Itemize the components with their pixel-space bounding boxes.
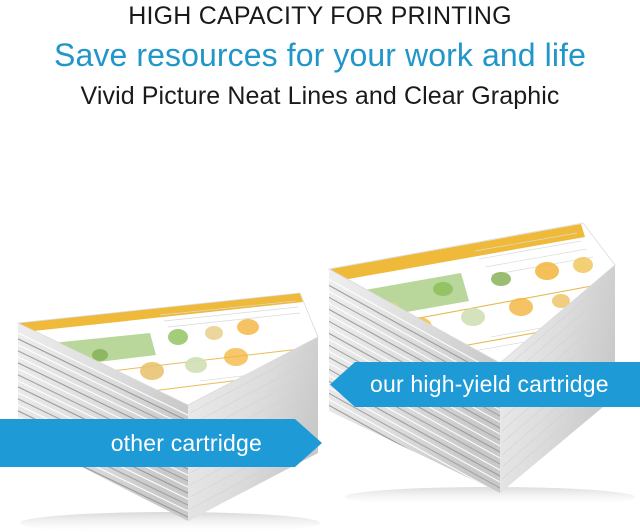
headline-block: HIGH CAPACITY FOR PRINTING Save resource… [0, 0, 640, 112]
other-cartridge-label: other cartridge [111, 430, 262, 457]
headline-line-2-accent: Save resources for your work and life [0, 35, 640, 75]
high-yield-paper-stack [315, 215, 640, 505]
other-cartridge-paper-stack [0, 285, 330, 532]
high-yield-cartridge-ribbon: our high-yield cartridge [330, 362, 640, 407]
promo-banner: HIGH CAPACITY FOR PRINTING Save resource… [0, 0, 640, 532]
other-cartridge-ribbon: other cartridge [0, 419, 322, 467]
headline-line-3: Vivid Picture Neat Lines and Clear Graph… [0, 80, 640, 112]
high-yield-cartridge-label: our high-yield cartridge [370, 371, 609, 398]
headline-line-1: HIGH CAPACITY FOR PRINTING [0, 1, 640, 31]
